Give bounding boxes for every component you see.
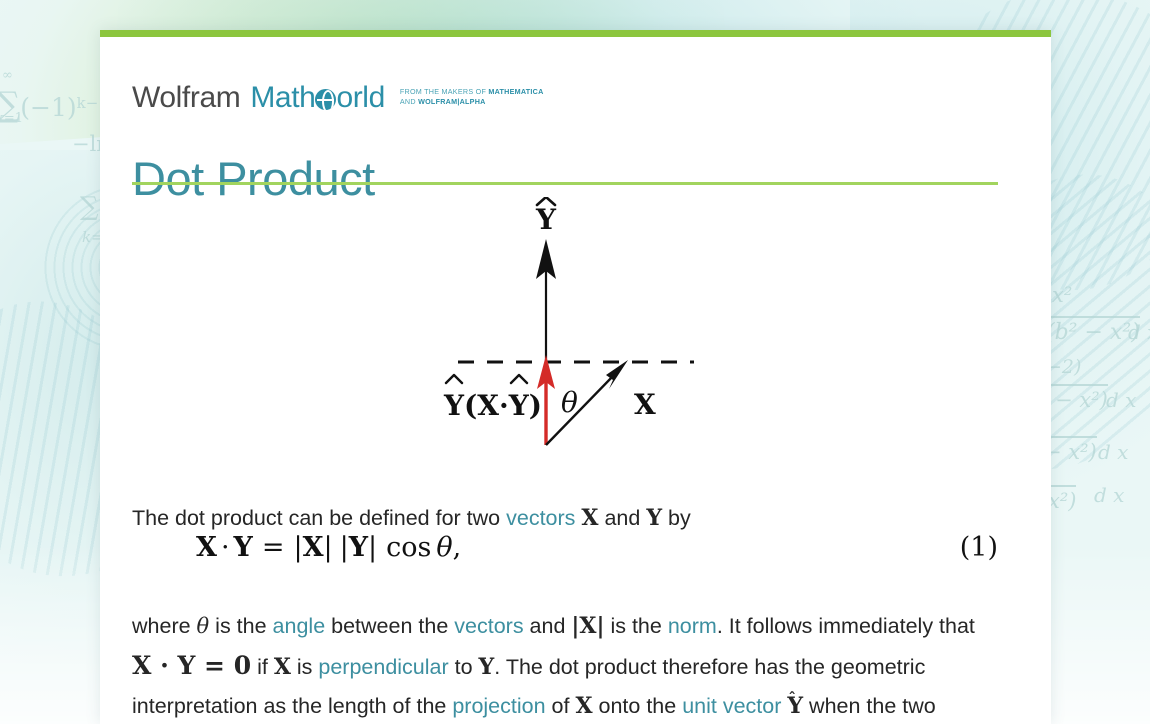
body-text-1: where (132, 614, 197, 638)
equation-theta: θ (436, 532, 452, 563)
link-perpendicular[interactable]: perpendicular (318, 655, 448, 679)
dot-product-projection-diagram: Y (436, 197, 716, 459)
figure-label-y-hat-top-text: Y (535, 203, 557, 236)
logo-tagline-line-1: FROM THE MAKERS OF MATHEMATICA (400, 87, 544, 97)
body-text-6: . It follows immediately that (717, 614, 975, 638)
equation-number: (1) (960, 532, 998, 563)
body-text-8: is (291, 655, 318, 679)
link-angle[interactable]: angle (273, 614, 326, 638)
logo-tagline: FROM THE MAKERS OF MATHEMATICA AND WOLFR… (400, 87, 544, 107)
equation-norm-y-var: Y (349, 532, 368, 563)
link-unit-vector[interactable]: unit vector (682, 694, 781, 718)
logo-tagline-wolfram-alpha: WOLFRAM|ALPHA (418, 97, 486, 106)
body-var-y: Y (479, 654, 495, 680)
hat-accent-icon-body: ˆ (788, 679, 796, 718)
body-inline-equation: X · Y = 0 (132, 651, 251, 680)
background-formula-r6: d x (1106, 388, 1136, 412)
equation-cos: cos (386, 532, 431, 563)
background-formula-r9-text: x²) (1048, 485, 1076, 513)
background-formula-sum-body: (−1) (20, 93, 76, 122)
logo-tagline-mathematica: MATHEMATICA (488, 87, 543, 96)
background-formula-sigma-small: ∑ (80, 192, 99, 222)
logo-tagline-line-2: AND WOLFRAM|ALPHA (400, 97, 544, 107)
intro-var-y: Y (646, 505, 662, 531)
site-logo[interactable]: Wolfram Mathorld FROM THE MAKERS OF MATH… (132, 83, 544, 113)
link-projection[interactable]: projection (452, 694, 545, 718)
globe-icon (315, 89, 336, 110)
equation-lhs-x: X (196, 532, 217, 563)
x-vector-arrow-head (606, 360, 628, 389)
equation-norm-y-close: | (368, 532, 377, 563)
intro-var-x: X (581, 505, 598, 531)
figure-container: Y (100, 195, 1051, 460)
body-text-5: is the (604, 614, 667, 638)
content-card: Wolfram Mathorld FROM THE MAKERS OF MATH… (100, 30, 1051, 724)
body-text-2: is the (209, 614, 272, 638)
card-top-accent-bar (100, 30, 1051, 37)
body-text-4: and (524, 614, 572, 638)
logo-word-mathworld: Mathorld (250, 83, 385, 113)
equation-norm-x-var: X (303, 532, 324, 563)
x-vector-arrow (546, 360, 628, 445)
background-formula-r2-text: (b² − x²) (1046, 316, 1140, 345)
title-divider-rule (132, 182, 998, 185)
link-norm[interactable]: norm (668, 614, 717, 638)
hat-accent-icon-2 (511, 375, 527, 383)
background-formula-r7-text: − x²) (1044, 436, 1097, 464)
figure-label-projection: Y(X·Y) (443, 375, 542, 422)
logo-word-world: orld (336, 81, 384, 114)
background-formula-r9: x²) (1048, 489, 1076, 513)
intro-text-1: The dot product can be defined for two (132, 506, 506, 530)
body-text-3: between the (325, 614, 454, 638)
equation-lhs-y: Y (234, 532, 253, 563)
card-inner: Wolfram Mathorld FROM THE MAKERS OF MATH… (100, 37, 1051, 724)
equation-norm-x-close: | (324, 532, 333, 563)
body-var-theta: θ (197, 614, 210, 638)
body-var-x: X (274, 654, 291, 680)
equation-comma: , (453, 532, 462, 563)
body-var-x-2: X (575, 693, 592, 719)
logo-word-math: Math (250, 81, 315, 114)
y-hat-arrow (536, 239, 556, 362)
background-formula-r2: (b² − x²) (1046, 320, 1140, 345)
equation-norm-x-open: | (293, 532, 302, 563)
hat-accent-icon-1 (446, 375, 462, 383)
background-formula-sum-lower: k=1 (0, 111, 23, 126)
figure-label-y-hat-top: Y (535, 197, 557, 236)
background-formula-sum-upper: ∞ (2, 68, 13, 83)
body-norm-x: |X| (571, 613, 604, 639)
equation-equals: = (262, 532, 285, 563)
logo-tagline-from-the-makers-of: FROM THE MAKERS OF (400, 87, 488, 96)
body-var-y-hat: ˆY (787, 687, 803, 724)
display-equation-row: X·Y=|X||Y|cosθ, (1) (132, 532, 998, 563)
equation-dot-operator: · (221, 532, 230, 563)
background-formula-r10: d x (1094, 483, 1124, 507)
background-formula-r7: − x²) (1044, 440, 1097, 464)
background-formula-r8: d x (1098, 440, 1128, 464)
figure-label-theta: θ (561, 386, 578, 419)
display-equation: X·Y=|X||Y|cosθ, (196, 532, 461, 563)
intro-text-3: and (598, 506, 646, 530)
figure-label-x: X (634, 388, 656, 421)
link-vectors-2[interactable]: vectors (454, 614, 523, 638)
logo-word-wolfram: Wolfram (132, 83, 240, 113)
body-text-7: if (251, 655, 274, 679)
body-text-12: onto the (593, 694, 683, 718)
background-formula-r3: d x (1128, 320, 1150, 344)
figure-label-projection-text: Y(X·Y) (443, 389, 542, 422)
background-formula-r4: −2) (1046, 356, 1081, 378)
paragraph-body: where θ is the angle between the vectors… (132, 607, 998, 724)
body-text-11: of (546, 694, 576, 718)
logo-tagline-and: AND (400, 97, 418, 106)
equation-norm-y-open: | (340, 532, 349, 563)
x-vector-arrow-shaft (546, 375, 614, 445)
intro-text-4: by (662, 506, 691, 530)
background-formula-sum-left: ∞ ∑ k=1 (−1)k−1 (0, 85, 108, 125)
body-text-9: to (449, 655, 479, 679)
link-vectors[interactable]: vectors (506, 506, 575, 530)
background-formula-r1: x² (1052, 283, 1072, 307)
